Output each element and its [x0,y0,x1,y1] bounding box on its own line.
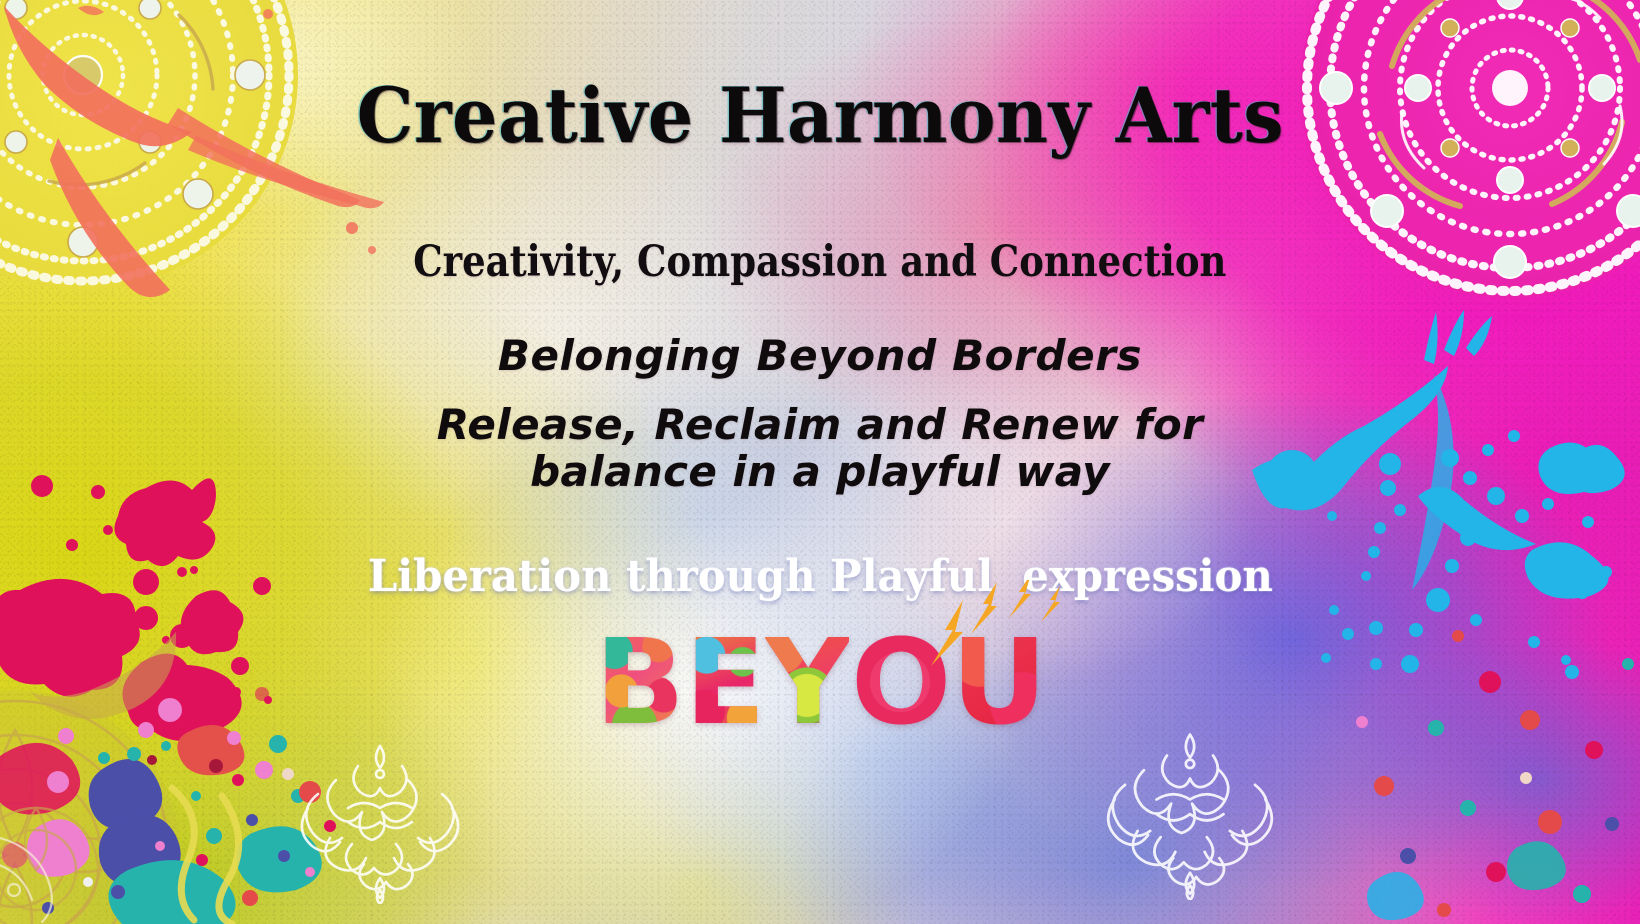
tagline: Creativity, Compassion and Connection [413,241,1226,284]
beyou-letter-y: Y [765,626,848,738]
beyou-logo[interactable]: B E Y O U [595,626,1045,738]
beyou-letter-b: B [595,626,683,738]
poster-canvas: Creative Harmony Arts Creativity, Compas… [0,0,1640,924]
slogan-release: Release, Reclaim and Renew for balance i… [340,401,1300,495]
slogan-liberation: Liberation through Playful expression [368,551,1273,602]
beyou-letter-o: O [851,626,949,738]
beyou-letter-e: E [685,626,764,738]
beyou-letter-u: U [951,626,1045,738]
page-title: Creative Harmony Arts [356,78,1283,154]
slogan-belonging: Belonging Beyond Borders [498,332,1142,379]
